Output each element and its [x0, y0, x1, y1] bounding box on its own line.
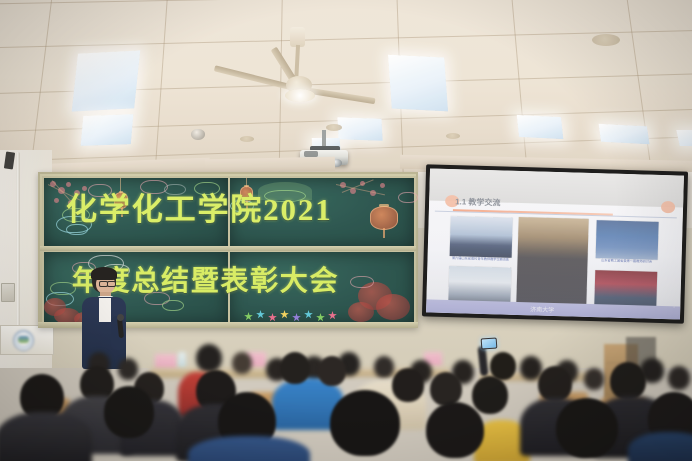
- air-vent: [446, 133, 460, 139]
- slide-photo: [516, 217, 588, 309]
- projection-screen: 1.1 教学交流 第六届山东省高校青年教师教学比赛合影 全国化工基础课程与实验教…: [422, 164, 688, 323]
- slide-photo-caption: 山东省教工团省委第一届教师研讨会: [589, 259, 663, 265]
- ceiling-soffit: [205, 157, 335, 174]
- slide-photo: [596, 220, 659, 260]
- wall-switch-box: [1, 283, 15, 302]
- chalk-red-lantern: [370, 206, 398, 230]
- university-crest-icon: [13, 330, 34, 351]
- blackboard-divider: [40, 246, 416, 251]
- water-bottle: [178, 352, 186, 369]
- blackboard-title-line1: 化学化工学院2021: [66, 194, 333, 225]
- dome-camera: [191, 129, 205, 140]
- fluorescent-light-panel: [81, 114, 134, 146]
- fluorescent-light-panel: [599, 124, 650, 144]
- fluorescent-light-panel: [517, 115, 564, 139]
- wall-pipe: [16, 152, 20, 332]
- screen-surface: 1.1 教学交流 第六届山东省高校青年教师教学比赛合影 全国化工基础课程与实验教…: [426, 168, 684, 319]
- slide-accent-right: [661, 201, 675, 213]
- slide-photo-caption: 第六届山东省高校青年教师教学比赛合影: [443, 257, 517, 263]
- slide-title: 1.1 教学交流: [455, 196, 501, 208]
- fluorescent-light-panel: [388, 55, 448, 112]
- air-vent: [240, 136, 254, 142]
- slide-footer-logo: 济南大学: [530, 304, 554, 314]
- air-vent: [326, 124, 342, 131]
- air-vent: [592, 34, 620, 46]
- presentation-slide: 1.1 教学交流 第六届山东省高校青年教师教学比赛合影 全国化工基础课程与实验教…: [426, 168, 684, 319]
- smartphone: [481, 337, 498, 349]
- fluorescent-light-panel: [337, 117, 382, 141]
- slide-photo: [450, 216, 513, 258]
- fluorescent-light-panel: [676, 130, 692, 146]
- fan-light: [285, 89, 315, 102]
- slide-page-number: 5: [673, 303, 675, 308]
- ceiling: [0, 0, 692, 180]
- lecture-hall-photo: 化学化工学院2021 年度总结暨表彰大会 1.1 教学交流 第六届山东省高校青年…: [0, 0, 692, 461]
- fluorescent-light-panel: [72, 50, 141, 111]
